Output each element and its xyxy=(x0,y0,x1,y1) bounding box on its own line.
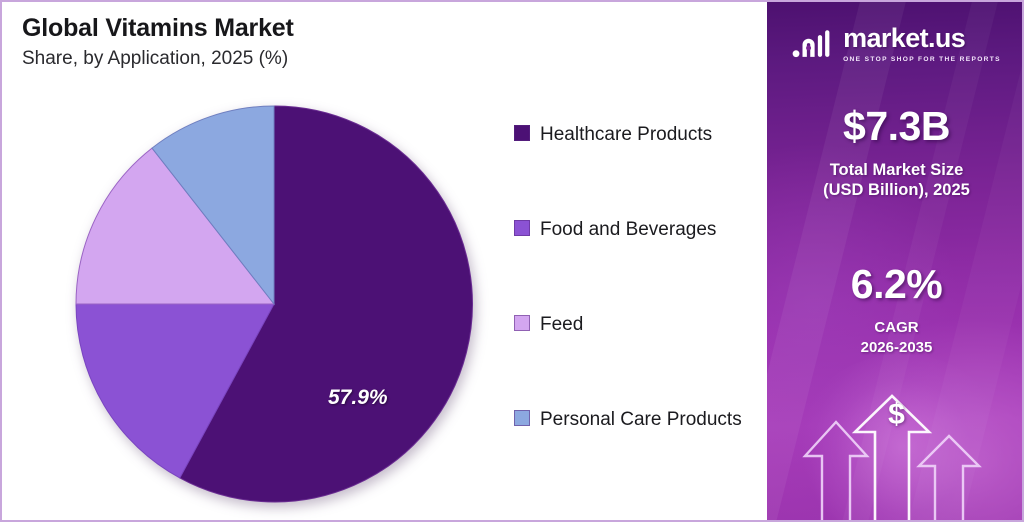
legend-swatch-icon xyxy=(514,125,530,141)
legend-swatch-icon xyxy=(514,220,530,236)
growth-arrows-icon xyxy=(789,394,1004,522)
chart-panel: Global Vitamins Market Share, by Applica… xyxy=(2,2,764,520)
brand-name: market.us xyxy=(843,25,1001,52)
legend-item-label: Personal Care Products xyxy=(540,407,742,434)
market-infographic: Global Vitamins Market Share, by Applica… xyxy=(0,0,1024,522)
brand-logo[interactable]: market.us ONE STOP SHOP FOR THE REPORTS xyxy=(767,24,1024,63)
cagr-caption-line2: 2026-2035 xyxy=(767,338,1024,358)
legend-item-food-and-beverages[interactable]: Food and Beverages xyxy=(514,217,754,244)
legend: Healthcare Products Food and Beverages F… xyxy=(514,122,754,502)
title-block: Global Vitamins Market Share, by Applica… xyxy=(22,14,294,71)
legend-swatch-icon xyxy=(514,315,530,331)
market-size-caption-line1: Total Market Size xyxy=(767,160,1024,180)
legend-item-label: Food and Beverages xyxy=(540,217,716,244)
brand-panel: market.us ONE STOP SHOP FOR THE REPORTS … xyxy=(767,2,1024,522)
chart-subtitle: Share, by Application, 2025 (%) xyxy=(22,47,294,72)
legend-item-personal-care-products[interactable]: Personal Care Products xyxy=(514,407,754,434)
legend-item-label: Feed xyxy=(540,312,583,339)
pie-slice-value-label: 57.9% xyxy=(328,386,388,410)
page-title: Global Vitamins Market xyxy=(22,14,294,43)
market-us-bars-logo-icon xyxy=(792,27,834,61)
market-size-caption-line2: (USD Billion), 2025 xyxy=(767,180,1024,200)
legend-item-label: Healthcare Products xyxy=(540,122,712,149)
cagr-caption-line1: CAGR xyxy=(767,318,1024,338)
brand-tagline: ONE STOP SHOP FOR THE REPORTS xyxy=(843,56,1001,63)
legend-swatch-icon xyxy=(514,410,530,426)
cagr-stat: 6.2% CAGR 2026-2035 xyxy=(767,264,1024,357)
pie-chart: 57.9% xyxy=(70,100,478,508)
market-size-stat: $7.3B Total Market Size (USD Billion), 2… xyxy=(767,106,1024,201)
cagr-caption: CAGR 2026-2035 xyxy=(767,318,1024,357)
cagr-value: 6.2% xyxy=(767,264,1024,305)
pie-chart-svg xyxy=(70,100,478,508)
market-size-value: $7.3B xyxy=(767,106,1024,147)
legend-item-healthcare-products[interactable]: Healthcare Products xyxy=(514,122,754,149)
market-size-caption: Total Market Size (USD Billion), 2025 xyxy=(767,160,1024,201)
logo-text: market.us ONE STOP SHOP FOR THE REPORTS xyxy=(843,25,1001,63)
legend-item-feed[interactable]: Feed xyxy=(514,312,754,339)
